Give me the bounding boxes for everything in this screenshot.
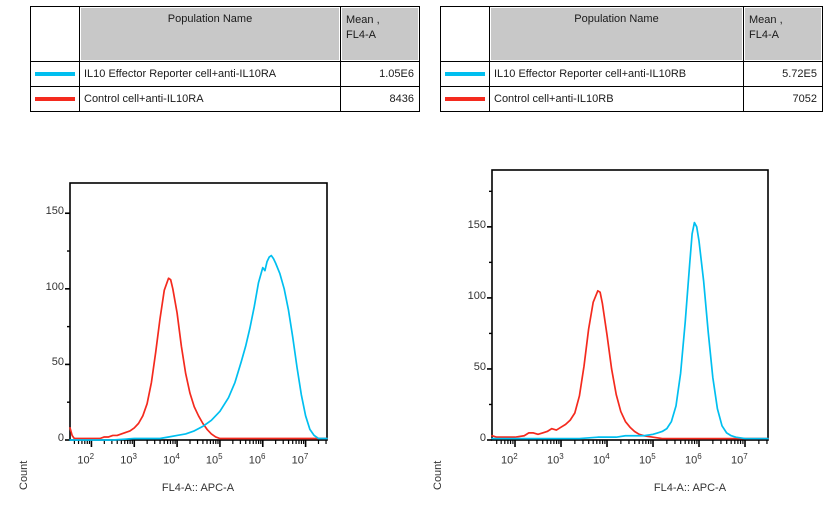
x-tick-label: 105 bbox=[206, 452, 223, 467]
table-row[interactable]: IL10 Effector Reporter cell+anti-IL10RA … bbox=[31, 62, 420, 87]
legend-swatch-red-icon bbox=[445, 97, 485, 101]
x-axis-title: FL4-A:: APC-A bbox=[98, 482, 298, 494]
header-swatch-cell bbox=[31, 7, 80, 62]
x-tick-label: 107 bbox=[731, 452, 748, 467]
row-population-name: IL10 Effector Reporter cell+anti-IL10RA bbox=[80, 62, 341, 87]
y-tick-label: 0 bbox=[446, 432, 486, 444]
row-color-swatch-cell bbox=[441, 87, 490, 112]
x-tick-label: 103 bbox=[120, 452, 137, 467]
header-population-name: Population Name bbox=[490, 7, 744, 62]
table-header-row: Population Name Mean , FL4-A bbox=[441, 7, 823, 62]
row-mean-value: 8436 bbox=[341, 87, 420, 112]
histogram-svg-right bbox=[420, 150, 833, 520]
header-mean: Mean , FL4-A bbox=[744, 7, 823, 62]
header-mean-line1: Mean , bbox=[346, 13, 414, 28]
row-population-name: Control cell+anti-IL10RB bbox=[490, 87, 744, 112]
row-color-swatch-cell bbox=[31, 87, 80, 112]
row-mean-value: 7052 bbox=[744, 87, 823, 112]
header-mean-line2: FL4-A bbox=[749, 28, 817, 43]
row-color-swatch-cell bbox=[441, 62, 490, 87]
x-tick-label: 104 bbox=[593, 452, 610, 467]
y-tick-label: 150 bbox=[446, 219, 486, 231]
x-tick-label: 104 bbox=[163, 452, 180, 467]
header-mean: Mean , FL4-A bbox=[341, 7, 420, 62]
legend-swatch-red-icon bbox=[35, 97, 75, 101]
y-axis-title: Count bbox=[432, 461, 444, 490]
legend-table-left-wrapper: Population Name Mean , FL4-A IL10 Effect… bbox=[30, 6, 420, 112]
y-tick-label: 50 bbox=[446, 361, 486, 373]
row-color-swatch-cell bbox=[31, 62, 80, 87]
row-mean-value: 1.05E6 bbox=[341, 62, 420, 87]
legend-swatch-cyan-icon bbox=[445, 72, 485, 76]
header-swatch-cell bbox=[441, 7, 490, 62]
legend-swatch-cyan-icon bbox=[35, 72, 75, 76]
header-population-name: Population Name bbox=[80, 7, 341, 62]
table-row[interactable]: Control cell+anti-IL10RA 8436 bbox=[31, 87, 420, 112]
y-tick-label: 100 bbox=[24, 281, 64, 293]
x-tick-label: 102 bbox=[77, 452, 94, 467]
y-tick-label: 150 bbox=[24, 205, 64, 217]
y-axis-title: Count bbox=[18, 461, 30, 490]
histogram-plot-right: Count FL4-A:: APC-A bbox=[420, 150, 833, 520]
legend-table-right-wrapper: Population Name Mean , FL4-A IL10 Effect… bbox=[440, 6, 823, 112]
population-legend-table-right: Population Name Mean , FL4-A IL10 Effect… bbox=[440, 6, 823, 112]
row-population-name: IL10 Effector Reporter cell+anti-IL10RB bbox=[490, 62, 744, 87]
y-tick-label: 0 bbox=[24, 432, 64, 444]
x-tick-label: 107 bbox=[292, 452, 309, 467]
header-mean-line2: FL4-A bbox=[346, 28, 414, 43]
x-tick-label: 106 bbox=[249, 452, 266, 467]
table-row[interactable]: Control cell+anti-IL10RB 7052 bbox=[441, 87, 823, 112]
x-axis-title: FL4-A:: APC-A bbox=[590, 482, 790, 494]
population-legend-table-left: Population Name Mean , FL4-A IL10 Effect… bbox=[30, 6, 420, 112]
x-tick-label: 106 bbox=[685, 452, 702, 467]
x-tick-label: 102 bbox=[501, 452, 518, 467]
table-header-row: Population Name Mean , FL4-A bbox=[31, 7, 420, 62]
table-row[interactable]: IL10 Effector Reporter cell+anti-IL10RB … bbox=[441, 62, 823, 87]
row-mean-value: 5.72E5 bbox=[744, 62, 823, 87]
y-tick-label: 50 bbox=[24, 356, 64, 368]
x-tick-label: 105 bbox=[639, 452, 656, 467]
x-tick-label: 103 bbox=[547, 452, 564, 467]
header-mean-line1: Mean , bbox=[749, 13, 817, 28]
y-tick-label: 100 bbox=[446, 290, 486, 302]
row-population-name: Control cell+anti-IL10RA bbox=[80, 87, 341, 112]
